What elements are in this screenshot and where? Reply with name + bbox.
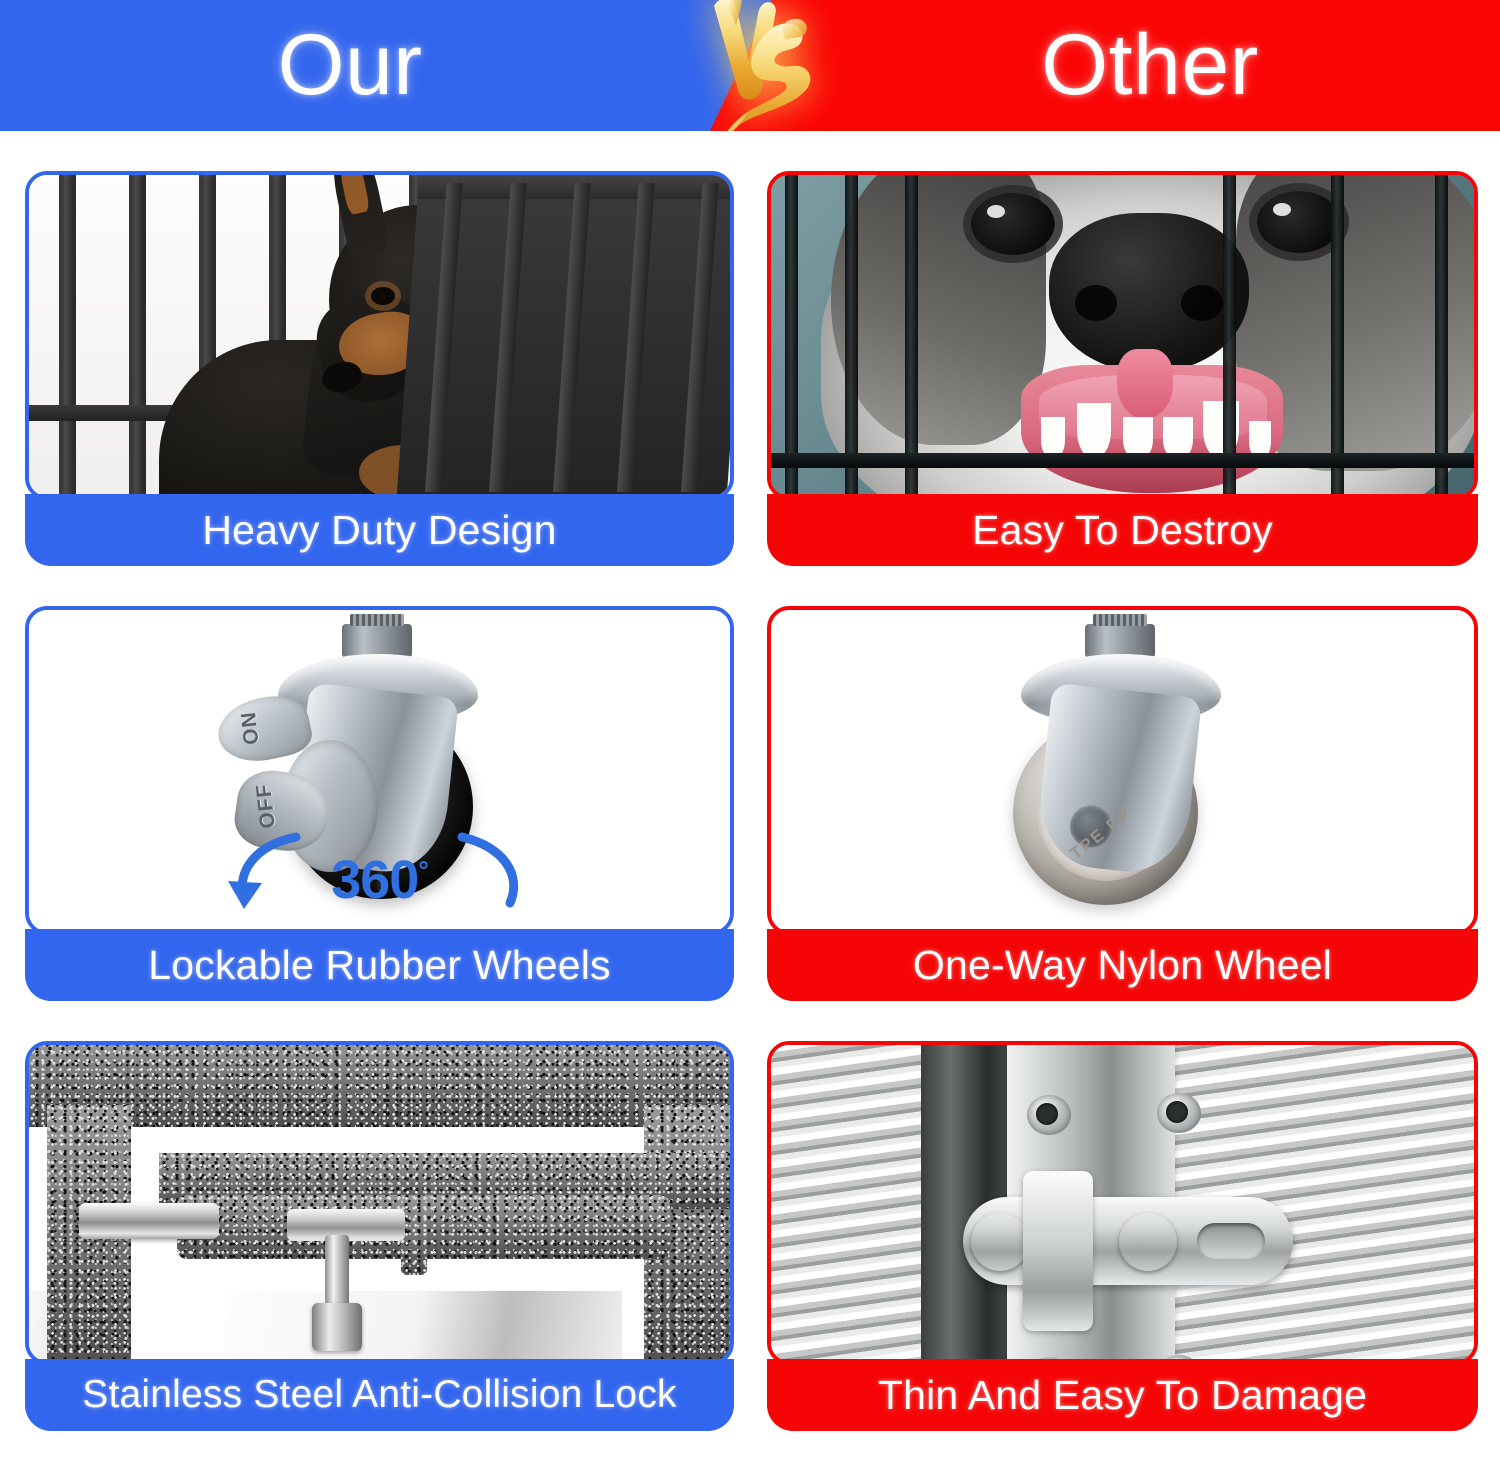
card: Stainless Steel Anti-Collision Lock [25,1041,734,1431]
card: Heavy Duty Design [25,171,734,566]
lever-on-label: ON [237,710,264,746]
cell-other-thin-lock: Thin And Easy To Damage [752,1001,1500,1431]
photo-frame [767,171,1478,500]
photo-frame [25,171,734,500]
cell-other-easy-destroy: Easy To Destroy [752,131,1500,566]
caption-thin-and-easy-to-damage: Thin And Easy To Damage [767,1359,1478,1431]
caption-stainless-steel-anti-collision-lock: Stainless Steel Anti-Collision Lock [25,1359,734,1431]
photo-doberman-cage [29,175,730,496]
husky-illustration [821,175,1474,496]
comparison-grid: Heavy Duty Design [0,131,1500,1467]
photo-lockable-caster: ON OFF 3 [29,610,730,931]
comparison-infographic: Our Other [0,0,1500,1467]
caption-easy-to-destroy: Easy To Destroy [767,494,1478,566]
header-banner: Our Other [0,0,1500,131]
card: ON OFF 3 [25,606,734,1001]
photo-frame: ON OFF 3 [25,606,734,935]
cell-our-lockable-wheels: ON OFF 3 [0,566,752,1001]
rotation-360-annotation: 360° [200,831,560,923]
cell-other-nylon-wheel: TPE PP One-Way Nylon Wheel [752,566,1500,1001]
caption-one-way-nylon-wheel: One-Way Nylon Wheel [767,929,1478,1001]
caption-heavy-duty-design: Heavy Duty Design [25,494,734,566]
caption-lockable-rubber-wheels: Lockable Rubber Wheels [25,929,734,1001]
photo-thin-latch [771,1045,1474,1361]
lever-off-label: OFF [252,782,281,829]
card: Thin And Easy To Damage [767,1041,1478,1431]
photo-frame [767,1041,1478,1365]
header-other-label: Other [800,0,1500,131]
card: TPE PP One-Way Nylon Wheel [767,606,1478,1001]
card: Easy To Destroy [767,171,1478,566]
photo-frame [25,1041,734,1365]
caster-illustration: TPE PP [973,628,1273,918]
photo-nylon-caster: TPE PP [771,610,1474,931]
cell-our-heavy-duty: Heavy Duty Design [0,131,752,566]
cell-our-anti-collision-lock: Stainless Steel Anti-Collision Lock [0,1001,752,1431]
header-our-label: Our [0,0,700,131]
photo-heavy-steel-lock [29,1045,730,1361]
vs-flame-icon [686,0,826,131]
photo-husky-biting-bars [771,175,1474,496]
photo-frame: TPE PP [767,606,1478,935]
rotation-value: 360° [331,853,428,907]
